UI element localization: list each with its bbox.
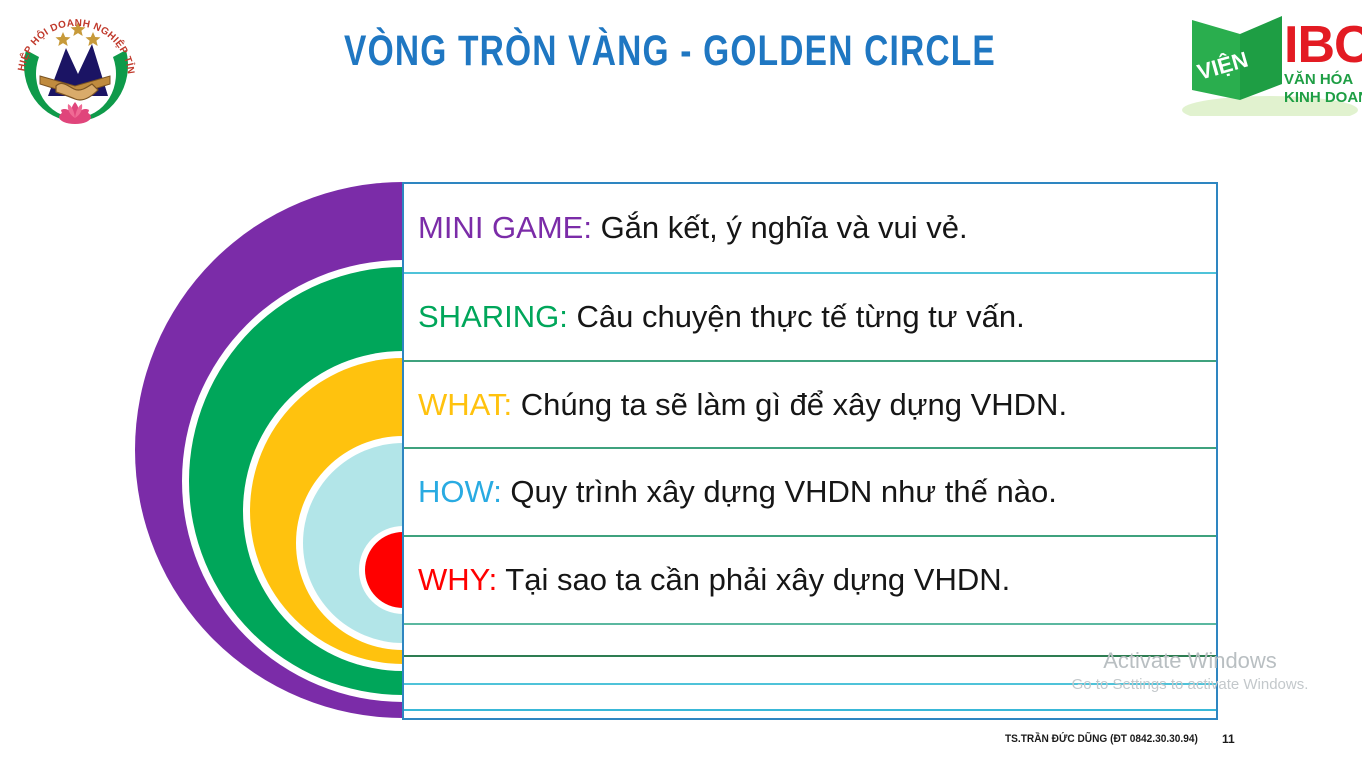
table-row: SHARING: Câu chuyện thực tế từng tư vấn. <box>404 272 1216 360</box>
table-row <box>404 683 1216 709</box>
footer-author: TS.TRẦN ĐỨC DŨNG (ĐT 0842.30.30.94) <box>1005 733 1198 745</box>
table-row: WHAT: Chúng ta sẽ làm gì để xây dựng VHD… <box>404 360 1216 447</box>
row-value: Chúng ta sẽ làm gì để xây dựng VHDN. <box>512 387 1067 423</box>
row-value: Tại sao ta cần phải xây dựng VHDN. <box>497 562 1010 598</box>
table-row: MINI GAME: Gắn kết, ý nghĩa và vui vẻ. <box>404 184 1216 272</box>
row-key: MINI GAME: <box>418 210 592 246</box>
page-number: 11 <box>1222 732 1235 746</box>
table-row <box>404 709 1216 718</box>
vien-ibc-logo: VIỆN IBC VĂN HÓA KINH DOANH <box>1178 4 1362 116</box>
row-value: Câu chuyện thực tế từng tư vấn. <box>568 299 1025 335</box>
table-row: WHY: Tại sao ta cần phải xây dựng VHDN. <box>404 535 1216 623</box>
table-row <box>404 623 1216 655</box>
table-row <box>404 655 1216 683</box>
row-value: Quy trình xây dựng VHDN như thế nào. <box>502 474 1057 510</box>
slide: HIỆP HỘI DOANH NGHIỆP TỈNH VĨNH PHÚC VÒN… <box>0 0 1366 768</box>
golden-circle-svg <box>0 0 420 768</box>
row-key: WHY: <box>418 562 497 598</box>
table-row: HOW: Quy trình xây dựng VHDN như thế nào… <box>404 447 1216 535</box>
logo-right-svg: VIỆN IBC VĂN HÓA KINH DOANH <box>1178 4 1362 116</box>
kinh-doanh-text: KINH DOANH <box>1284 89 1362 106</box>
golden-circle-graphic <box>0 0 420 768</box>
ibc-text: IBC <box>1284 16 1362 74</box>
row-key: HOW: <box>418 474 502 510</box>
row-key: SHARING: <box>418 299 568 335</box>
row-key: WHAT: <box>418 387 512 423</box>
van-hoa-text: VĂN HÓA <box>1284 70 1353 88</box>
row-value: Gắn kết, ý nghĩa và vui vẻ. <box>592 210 968 246</box>
golden-circle-table: MINI GAME: Gắn kết, ý nghĩa và vui vẻ. S… <box>402 182 1218 720</box>
